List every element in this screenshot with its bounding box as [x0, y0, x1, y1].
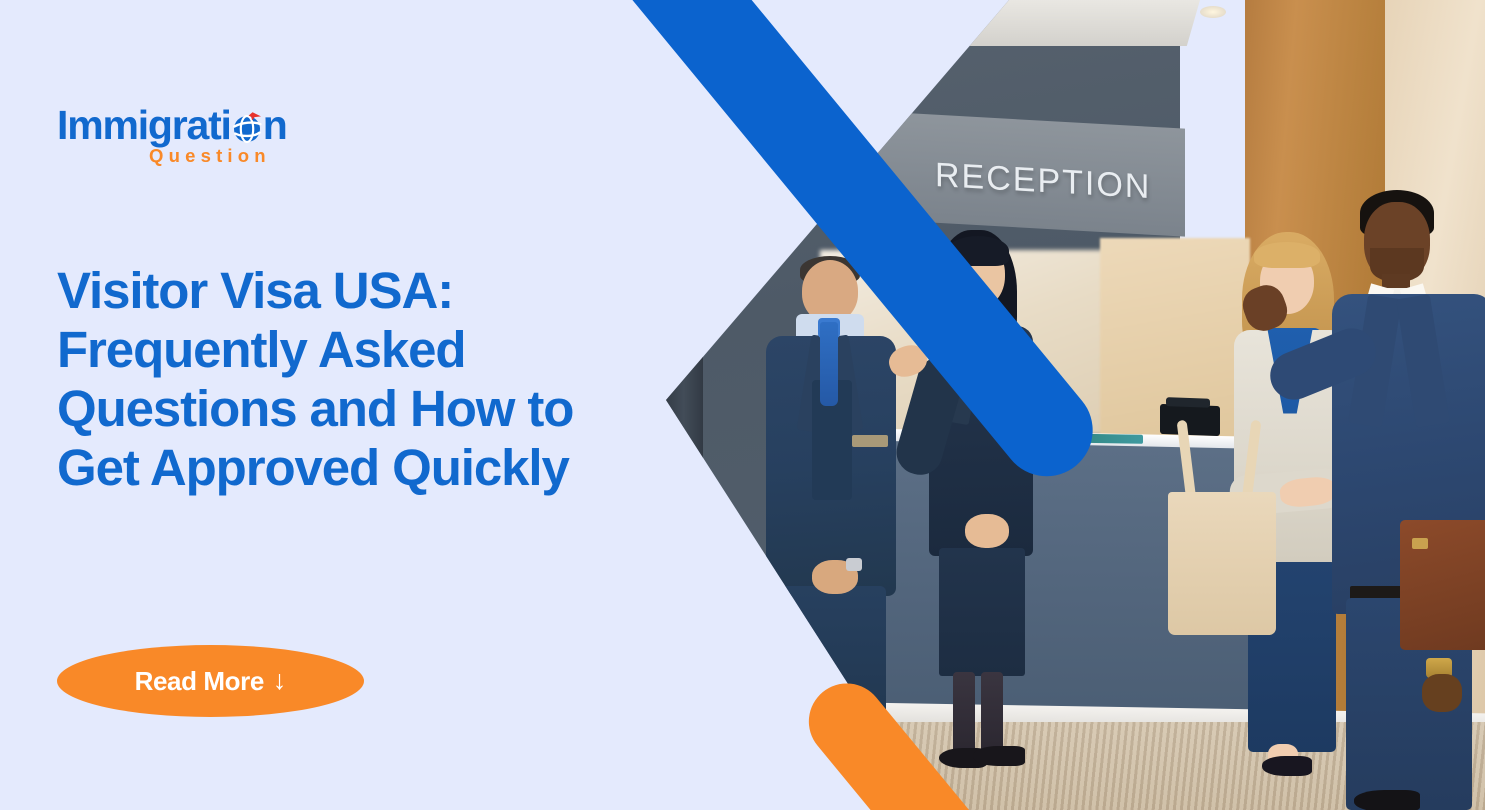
- logo[interactable]: Immigrati n Question: [57, 105, 307, 177]
- wristwatch: [846, 558, 862, 571]
- necktie: [820, 322, 838, 406]
- shoe: [1262, 756, 1312, 776]
- logo-text-post: n: [263, 102, 287, 148]
- name-badge: [852, 435, 888, 447]
- hero-banner: RECEPTION: [0, 0, 1485, 810]
- hand-holding-briefcase: [1422, 674, 1462, 712]
- logo-text-pre: Immigrati: [57, 102, 231, 148]
- globe-airplane-icon: [230, 110, 264, 144]
- briefcase: [1400, 520, 1485, 650]
- person-man-blue-suit: [1330, 190, 1485, 810]
- read-more-button[interactable]: Read More ↓: [57, 645, 364, 717]
- logo-subtext: Question: [149, 147, 307, 166]
- resting-hands: [965, 514, 1009, 548]
- fringe: [1254, 242, 1320, 268]
- bag-body: [1168, 492, 1276, 635]
- head: [802, 260, 858, 322]
- person-man-navy-suit: [760, 260, 900, 730]
- shoe-right: [973, 746, 1025, 766]
- shoe: [1354, 790, 1420, 810]
- skirt: [939, 548, 1025, 676]
- logo-wordmark: Immigrati n: [57, 105, 307, 146]
- leg-right: [981, 672, 1003, 756]
- read-more-label: Read More: [135, 666, 264, 697]
- page-title: Visitor Visa USA: Frequently Asked Quest…: [57, 262, 617, 498]
- leg-left: [953, 672, 975, 756]
- tote-bag: [1168, 420, 1276, 635]
- ceiling-light-icon: [1200, 6, 1226, 18]
- briefcase-lock: [1412, 538, 1428, 549]
- arrow-down-icon: ↓: [273, 667, 287, 694]
